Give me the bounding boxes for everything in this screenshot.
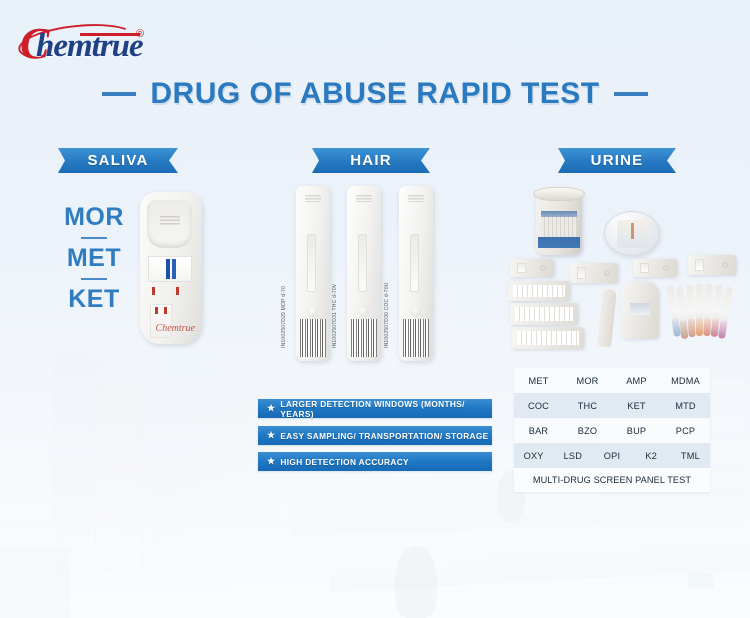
page-title-row: DRUG OF ABUSE RAPID TEST <box>0 77 750 111</box>
hair-strip-sample-well <box>307 306 318 317</box>
barcode-label: IN1002507D30 COC d-70U <box>384 282 390 348</box>
table-cell: BZO <box>563 426 612 436</box>
dip-strip <box>696 284 703 336</box>
urine-collection-cup <box>536 191 582 255</box>
urine-test-kit-image <box>508 185 743 360</box>
brand-logo: C hemtrue ® <box>14 24 164 68</box>
analyte-label: MOR <box>48 204 140 231</box>
urine-test-dish <box>604 211 660 256</box>
feature-bar: ★ EASY SAMPLING/ TRANSPORTATION/ STORAGE <box>258 426 492 445</box>
barcode-icon <box>403 319 429 357</box>
test-cassette <box>570 263 618 283</box>
logo-wordmark: hemtrue <box>36 28 143 65</box>
saliva-device-logo: Chemtrue <box>156 323 195 334</box>
table-cell: KET <box>612 401 661 411</box>
feature-bar: ★ HIGH DETECTION ACCURACY <box>258 452 492 471</box>
dip-strip <box>686 285 696 337</box>
table-cell: OXY <box>514 451 553 461</box>
table-cell: LSD <box>553 451 592 461</box>
title-dash-right-icon <box>614 92 648 96</box>
hair-strip-result-slot <box>358 234 367 292</box>
test-cassette <box>510 259 554 277</box>
section-ribbon-hair: HAIR <box>312 148 430 173</box>
table-cell: OPI <box>592 451 631 461</box>
hair-strip-grip <box>305 195 321 202</box>
saliva-result-marks <box>148 287 194 299</box>
hair-strip-result-slot <box>307 234 316 292</box>
star-icon: ★ <box>267 431 275 440</box>
table-cell: BUP <box>612 426 661 436</box>
cup-lid <box>533 187 585 201</box>
hair-test-strip-image: IN1002507D30 COC d-70U <box>399 186 433 361</box>
barcode-label: IN1002507D31 THC d-70V <box>332 284 338 348</box>
hair-strip-grip <box>356 195 372 202</box>
table-row: MET MOR AMP MDMA <box>514 368 710 393</box>
feature-bar-label: EASY SAMPLING/ TRANSPORTATION/ STORAGE <box>280 431 488 441</box>
section-ribbon-urine: URINE <box>558 148 676 173</box>
table-cell: AMP <box>612 376 661 386</box>
barcode-icon <box>300 319 326 357</box>
saliva-result-window <box>148 256 192 282</box>
registered-trademark-icon: ® <box>136 28 144 40</box>
cup-label-band <box>538 237 580 248</box>
barcode-label: IN1002507D29 MOP d-70 <box>281 286 287 348</box>
sample-spatula <box>597 288 617 347</box>
feature-bar-label: LARGER DETECTION WINDOWS (MONTHS/ YEARS) <box>280 399 492 419</box>
table-cell: COC <box>514 401 563 411</box>
analyte-separator-icon <box>81 278 107 280</box>
poster-root: C hemtrue ® DRUG OF ABUSE RAPID TEST SAL… <box>0 0 750 618</box>
saliva-test-device-image: Chemtrue <box>140 192 202 344</box>
table-cell: MOR <box>563 376 612 386</box>
table-row: BAR BZO BUP PCP <box>514 418 710 443</box>
analyte-label: MET <box>48 245 140 272</box>
analyte-separator-icon <box>81 237 107 239</box>
barcode-icon <box>351 319 377 357</box>
table-cell: THC <box>563 401 612 411</box>
saliva-analyte-list: MOR MET KET <box>48 204 140 313</box>
dish-insert <box>617 220 649 248</box>
table-cell: K2 <box>632 451 671 461</box>
analyte-label: KET <box>48 286 140 313</box>
hair-strip-grip <box>408 195 424 202</box>
feature-bar-label: HIGH DETECTION ACCURACY <box>280 457 409 467</box>
saliva-collector-device <box>621 281 659 339</box>
multi-drug-panel-table: MET MOR AMP MDMA COC THC KET MTD BAR BZO… <box>514 368 710 492</box>
feature-bar: ★ LARGER DETECTION WINDOWS (MONTHS/ YEAR… <box>258 399 492 418</box>
table-row: COC THC KET MTD <box>514 393 710 418</box>
hair-strip-sample-well <box>358 306 369 317</box>
section-ribbon-saliva: SALIVA <box>58 148 178 173</box>
multi-panel-card <box>510 303 578 325</box>
hair-test-strip-image: IN1002507D29 MOP d-70 <box>296 186 330 361</box>
hair-test-strip-image: IN1002507D31 THC d-70V <box>347 186 381 361</box>
test-cassette <box>688 255 736 275</box>
table-cell: PCP <box>661 426 710 436</box>
multi-panel-card <box>508 281 570 301</box>
table-row: OXY LSD OPI K2 TML <box>514 443 710 468</box>
test-cassette <box>633 259 677 277</box>
star-icon: ★ <box>267 457 275 466</box>
page-title: DRUG OF ABUSE RAPID TEST <box>150 77 599 111</box>
hair-strip-sample-well <box>410 306 421 317</box>
table-cell: BAR <box>514 426 563 436</box>
table-cell: MTD <box>661 401 710 411</box>
saliva-collection-cup <box>147 200 192 248</box>
star-icon: ★ <box>267 404 275 413</box>
panel-table-footer: MULTI-DRUG SCREEN PANEL TEST <box>514 468 710 492</box>
table-cell: TML <box>671 451 710 461</box>
hair-strip-result-slot <box>410 234 419 292</box>
title-dash-left-icon <box>102 92 136 96</box>
multi-panel-card <box>512 327 584 349</box>
table-cell: MET <box>514 376 563 386</box>
table-cell: MDMA <box>661 376 710 386</box>
